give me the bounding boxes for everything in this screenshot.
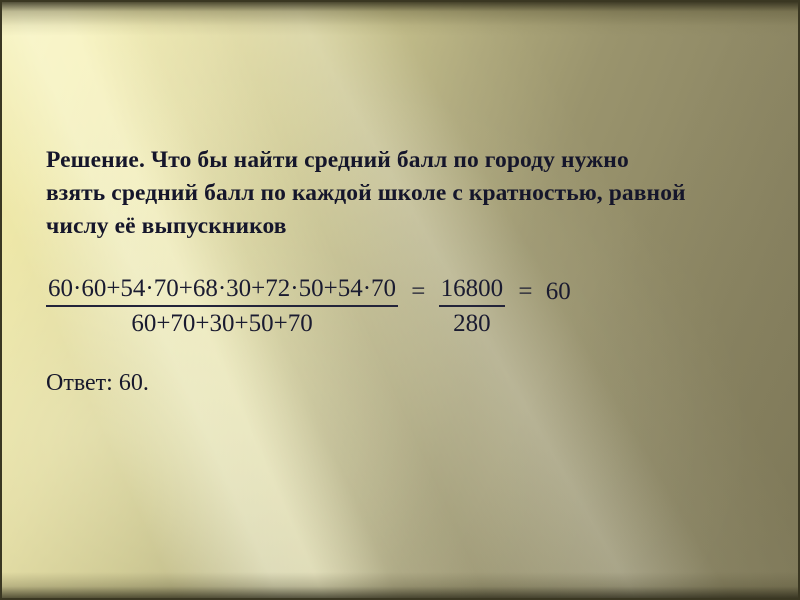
statement-line-1: Решение. Что бы найти средний балл по го… — [46, 144, 746, 177]
statement-line-3: числу её выпускников — [46, 210, 746, 243]
answer-label: Ответ: — [46, 370, 113, 396]
fraction-denominator: 60+70+30+50+70 — [46, 307, 398, 339]
equals-sign-first: = — [404, 277, 432, 307]
solution-statement: Решение. Что бы найти средний балл по го… — [46, 144, 746, 243]
answer-value: 60. — [119, 370, 149, 396]
fraction-numerator-simplified: 16800 — [439, 274, 506, 307]
equals-sign-second: = — [511, 277, 539, 307]
formula-result: 60 — [546, 277, 571, 307]
fraction-numerator: 60·60+54·70+68·30+72·50+54·70 — [46, 274, 398, 307]
statement-line-2: взять средний балл по каждой школе с кра… — [46, 177, 746, 210]
fraction-expression: 60·60+54·70+68·30+72·50+54·70 60+70+30+5… — [46, 274, 398, 339]
fraction-simplified: 16800 280 — [439, 274, 506, 339]
answer-line: Ответ: 60. — [46, 370, 149, 397]
slide-content: Решение. Что бы найти средний балл по го… — [2, 2, 798, 598]
weighted-average-formula: 60·60+54·70+68·30+72·50+54·70 60+70+30+5… — [46, 274, 571, 339]
fraction-denominator-simplified: 280 — [439, 307, 506, 339]
presentation-slide: Решение. Что бы найти средний балл по го… — [0, 0, 800, 600]
